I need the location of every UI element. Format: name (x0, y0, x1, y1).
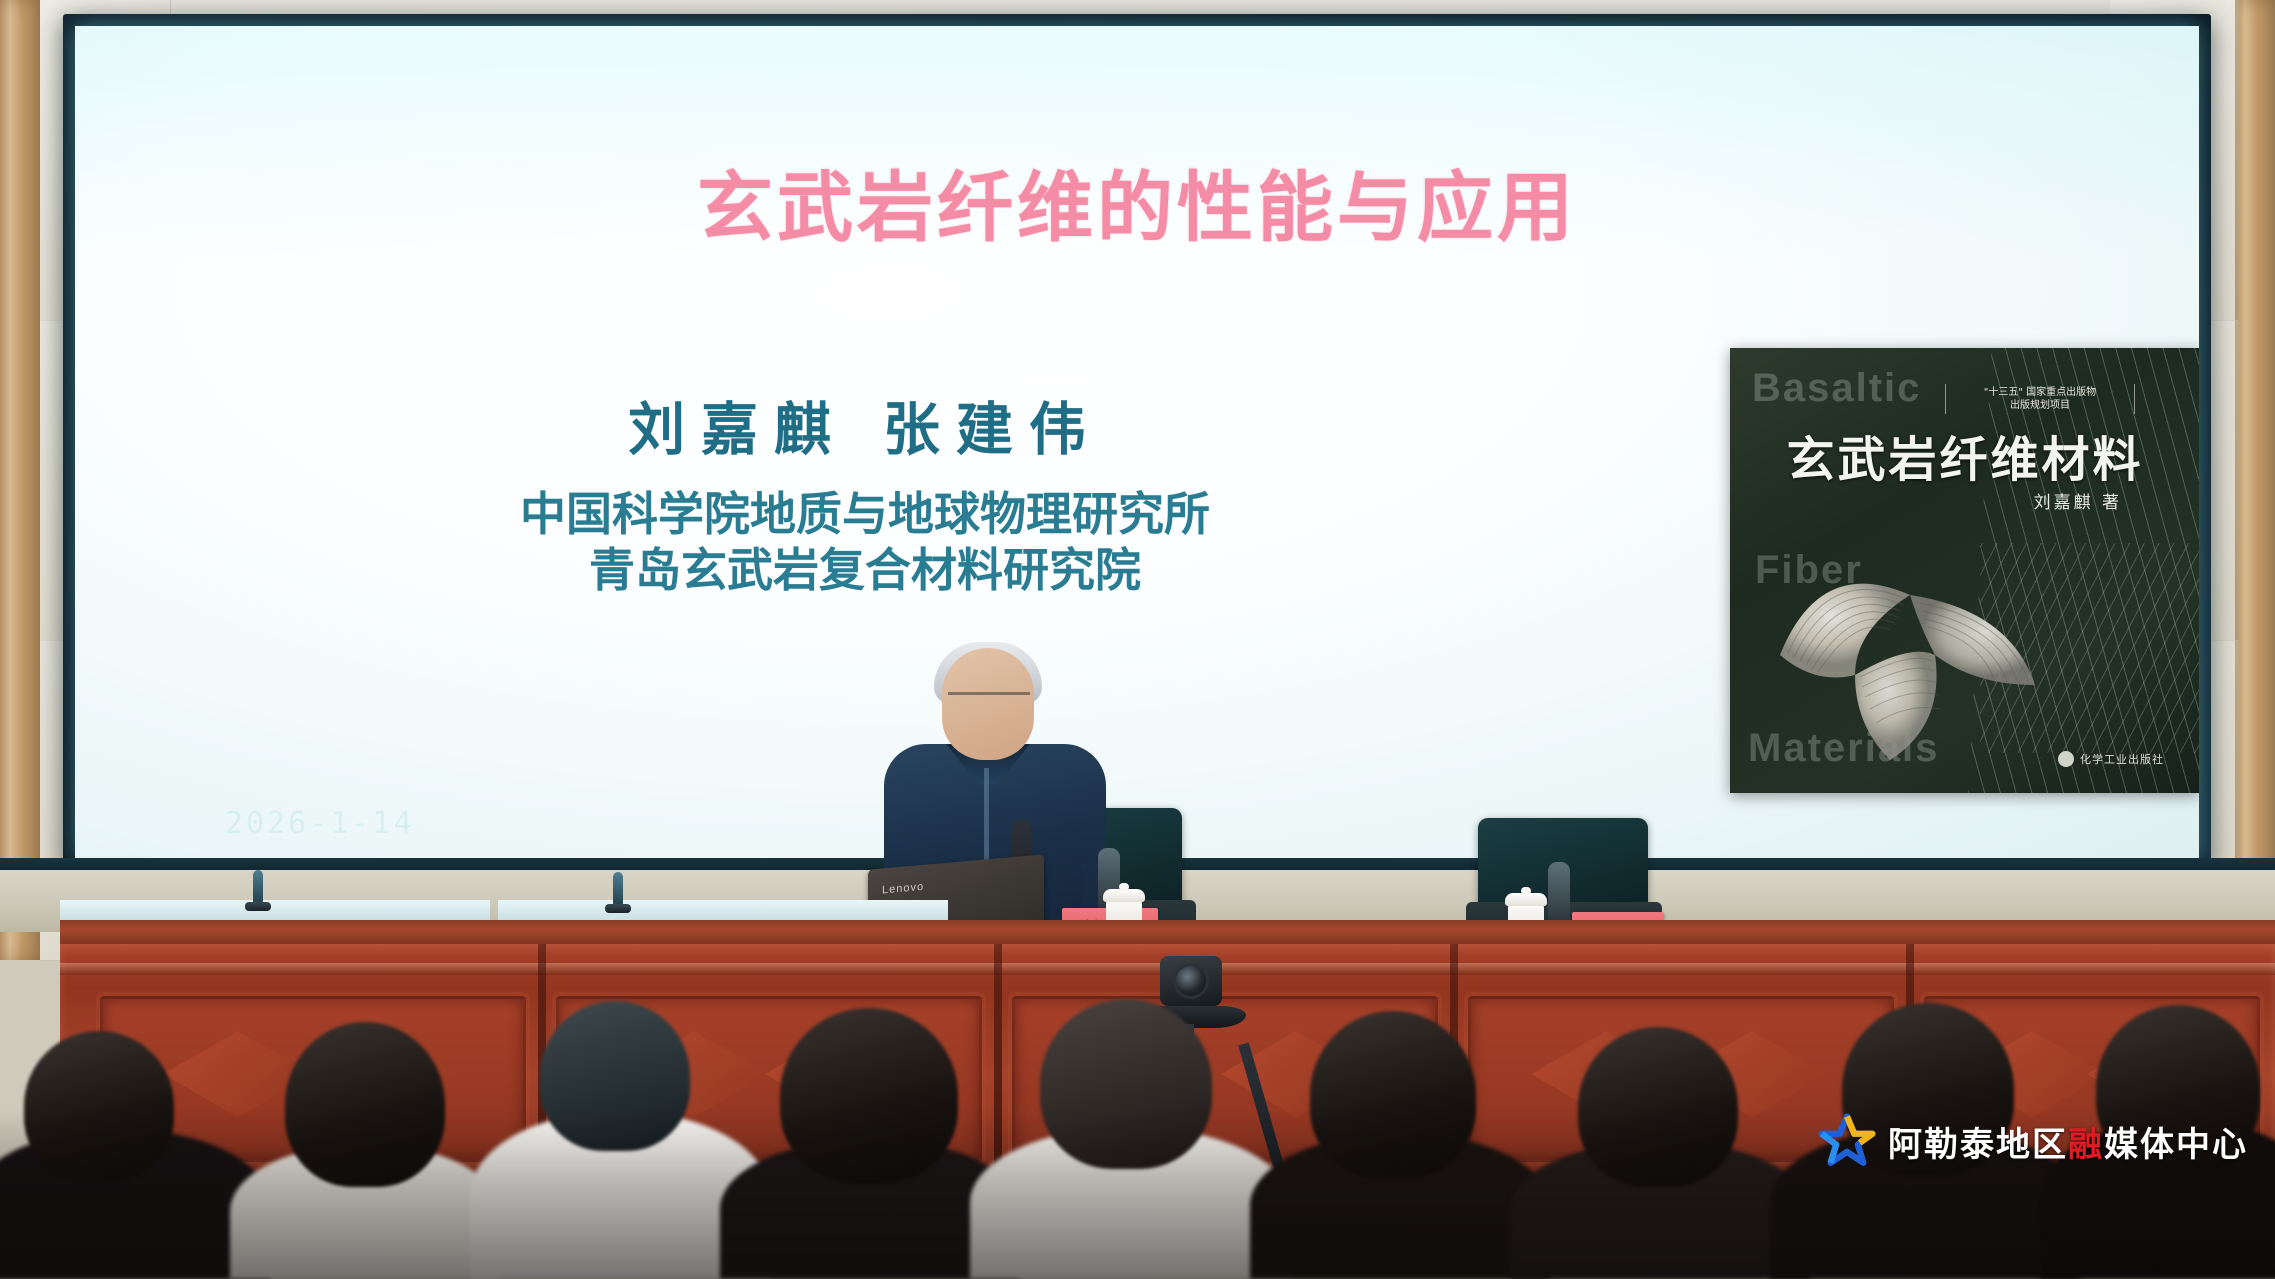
wall-pilaster-left (0, 0, 40, 960)
audience-head (1310, 1011, 1476, 1179)
tea-cup-knob-left (1119, 883, 1129, 891)
table-microphone-2 (613, 872, 623, 908)
podium-desk-top (60, 920, 2275, 946)
watermark-text: 阿勒泰地区融媒体中心 (1888, 1117, 2248, 1166)
broadcaster-watermark: 阿勒泰地区融媒体中心 (1818, 1112, 2248, 1170)
audience-head (540, 1001, 690, 1151)
table-microphone-base-2 (605, 904, 631, 913)
book-cover-artwork (1760, 535, 2060, 765)
book-banner-line2: 出版规划项目 (1950, 399, 2130, 412)
camera-lens-icon (1176, 966, 1206, 996)
speaker-glasses (948, 692, 1030, 711)
table-microphone-base-1 (245, 902, 271, 911)
laptop-brand-label: Lenovo (882, 881, 924, 897)
projection-screen-frame: 玄武岩纤维的性能与应用 刘嘉麒 张建伟 中国科学院地质与地球物理研究所 青岛玄武… (63, 14, 2211, 870)
slide-authors: 刘嘉麒 张建伟 (115, 384, 1615, 466)
book-publisher: 化学工业出版社 (2058, 751, 2164, 767)
audience-head (780, 1008, 958, 1183)
slide-affiliation-line2: 青岛玄武岩复合材料研究院 (115, 534, 1615, 600)
projection-screen: 玄武岩纤维的性能与应用 刘嘉麒 张建伟 中国科学院地质与地球物理研究所 青岛玄武… (75, 26, 2199, 858)
audience-head (1040, 999, 1212, 1169)
table-microphone-1 (253, 870, 263, 906)
star-logo-icon (1818, 1112, 1876, 1170)
publisher-logo-icon (2058, 751, 2074, 767)
lecture-hall-scene: 玄武岩纤维的性能与应用 刘嘉麒 张建伟 中国科学院地质与地球物理研究所 青岛玄武… (0, 0, 2275, 1279)
book-banner-line1: "十三五" 国家重点出版物 (1950, 386, 2130, 399)
tea-cup-knob-right (1521, 887, 1531, 895)
podium-panel-gap-2 (994, 944, 1002, 1184)
audience-head (285, 1022, 445, 1187)
watermark-highlight: 融 (2068, 1125, 2104, 1165)
audience-head (1578, 1027, 1738, 1187)
slide-date: 2026-1-14 (225, 806, 415, 841)
audience-head (24, 1031, 174, 1181)
book-banner: "十三五" 国家重点出版物 出版规划项目 (1945, 384, 2135, 414)
book-cover-image: Basaltic Fiber Materials "十三五" 国家重点出版物 出… (1730, 348, 2199, 793)
publisher-name: 化学工业出版社 (2080, 751, 2164, 767)
slide-title: 玄武岩纤维的性能与应用 (75, 146, 2199, 256)
book-author: 刘嘉麒 著 (2034, 488, 2122, 513)
book-ghost-text-basaltic: Basaltic (1752, 366, 1921, 411)
book-title: 玄武岩纤维材料 (1730, 420, 2199, 490)
watermark-suffix: 媒体中心 (2104, 1125, 2248, 1165)
wall-pilaster-right (2235, 0, 2275, 960)
watermark-prefix: 阿勒泰地区 (1888, 1125, 2068, 1165)
